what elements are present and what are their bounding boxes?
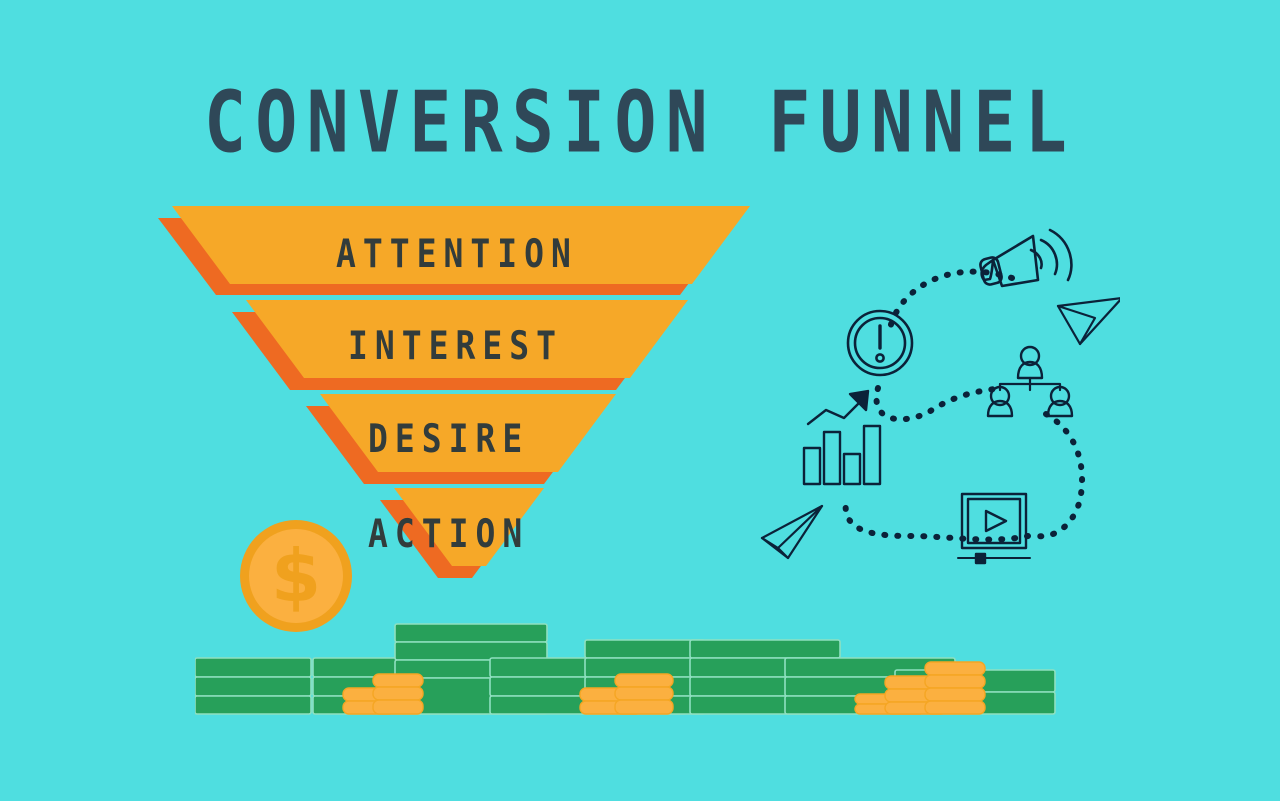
funnel-label-attention: ATTENTION: [336, 230, 578, 276]
money-stacks-svg: [195, 612, 1085, 722]
coin-dollar-symbol: $: [271, 534, 321, 618]
users-network-icon: [988, 347, 1072, 416]
dotted-path: [1038, 414, 1082, 536]
dotted-path: [890, 272, 1012, 328]
alert-circle-icon: [848, 311, 912, 375]
coin-stack: [925, 662, 985, 714]
coin-stack: [373, 674, 423, 714]
paper-plane-icon-right: [1058, 298, 1120, 344]
infographic-canvas: CONVERSION FUNNEL ATTE: [0, 0, 1280, 801]
page-title: CONVERSION FUNNEL: [51, 72, 1229, 172]
dotted-path: [846, 500, 1028, 540]
money-stacks: [195, 612, 1085, 722]
coin-stack: [615, 674, 673, 714]
megaphone-icon: [979, 230, 1071, 286]
bill-stack: [195, 658, 311, 714]
funnel-label-action: ACTION: [368, 510, 529, 556]
marketing-icon-cluster: [750, 218, 1120, 578]
video-player-icon: [958, 494, 1030, 563]
icon-cluster-svg: [750, 218, 1120, 578]
paper-plane-icon-left: [762, 506, 822, 558]
funnel-label-interest: INTEREST: [348, 322, 563, 368]
dotted-path: [876, 388, 1002, 419]
bar-chart-growth-icon: [804, 391, 880, 484]
funnel-label-desire: DESIRE: [368, 415, 529, 461]
